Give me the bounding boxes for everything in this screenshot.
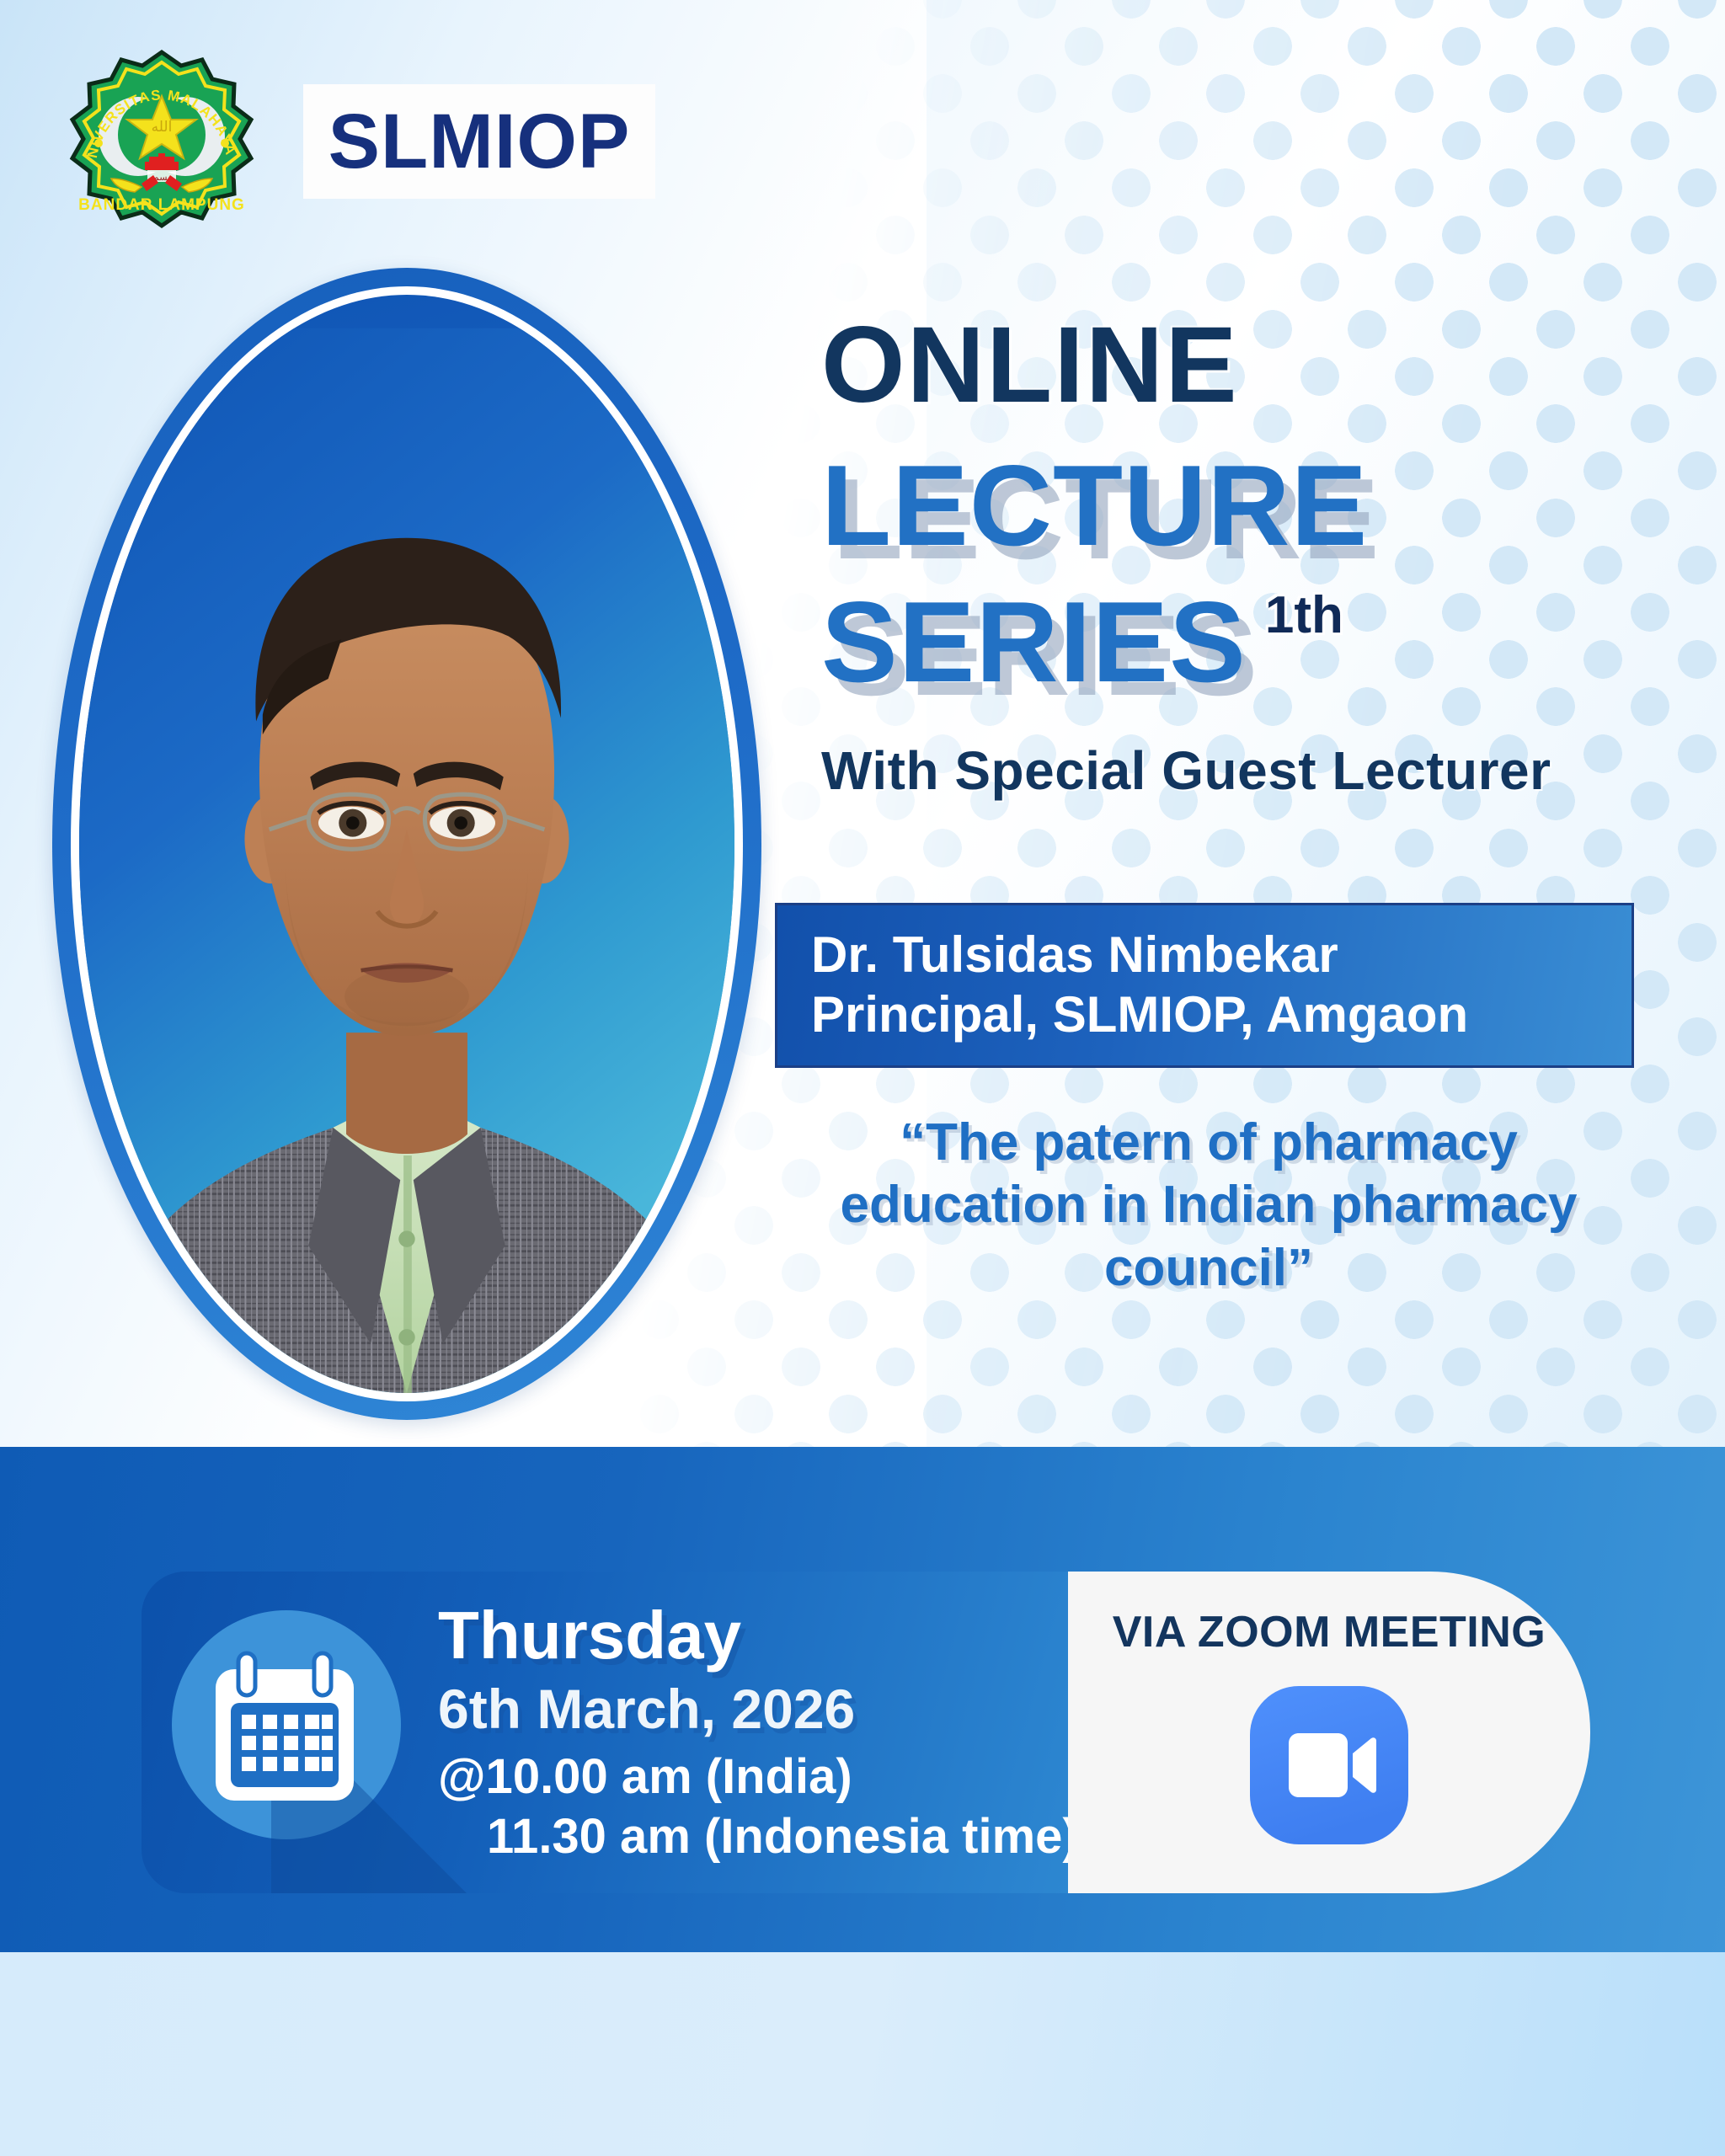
title-line-online: ONLINE [821, 312, 1697, 419]
svg-text:الله: الله [152, 119, 173, 136]
schedule-time-indonesia: 11.30 am (Indonesia time) [438, 1812, 1053, 1863]
title-line-lecture: LECTURE [821, 448, 1697, 563]
title-subtitle: With Special Guest Lecturer [821, 743, 1697, 799]
schedule-card: Thursday 6th March, 2026 @10.00 am (Indi… [142, 1572, 1068, 1893]
topic-line-3: council” [775, 1237, 1642, 1299]
schedule-day: Thursday [438, 1602, 1053, 1669]
platform-label: VIA ZOOM MEETING [1113, 1607, 1546, 1657]
title-line-series: SERIES1th [821, 584, 1325, 699]
schedule-date: 6th March, 2026 [438, 1681, 1053, 1737]
calendar-icon [211, 1651, 359, 1807]
title-series-word: SERIES [821, 578, 1247, 706]
schedule-time-india: @10.00 am (India) [438, 1752, 1053, 1803]
topic-line-2: education in Indian pharmacy [775, 1174, 1642, 1236]
calendar-icon-wrap [163, 1602, 416, 1854]
speaker-name-banner: Dr. Tulsidas Nimbekar Principal, SLMIOP,… [775, 903, 1634, 1068]
event-title-block: ONLINE LECTURE SERIES1th With Special Gu… [821, 312, 1697, 799]
speaker-affiliation: Principal, SLMIOP, Amgaon [811, 985, 1632, 1045]
footer-bottom-strip [0, 1952, 1725, 2156]
platform-card: VIA ZOOM MEETING [1068, 1572, 1590, 1893]
speaker-name: Dr. Tulsidas Nimbekar [811, 926, 1632, 985]
title-ordinal-badge: 1th [1265, 586, 1343, 644]
svg-text:BANDAR LAMPUNG: BANDAR LAMPUNG [78, 196, 245, 214]
zoom-camera-icon [1245, 1681, 1413, 1849]
slmiop-brand-label: SLMIOP [328, 103, 631, 180]
speaker-photo [79, 295, 734, 1393]
topic-line-1: “The patern of pharmacy [775, 1112, 1642, 1174]
university-crest-icon: الله بسم UNIVERSITAS MALAHAYATI BANDAR L… [61, 44, 263, 246]
speaker-photo-frame [52, 268, 761, 1420]
lecture-topic: “The patern of pharmacy education in Ind… [775, 1112, 1642, 1299]
photo-inner-ring [71, 286, 743, 1401]
poster-canvas: الله بسم UNIVERSITAS MALAHAYATI BANDAR L… [0, 0, 1725, 2156]
slmiop-brand-badge: SLMIOP [303, 84, 655, 199]
schedule-text-block: Thursday 6th March, 2026 @10.00 am (Indi… [438, 1602, 1053, 1863]
